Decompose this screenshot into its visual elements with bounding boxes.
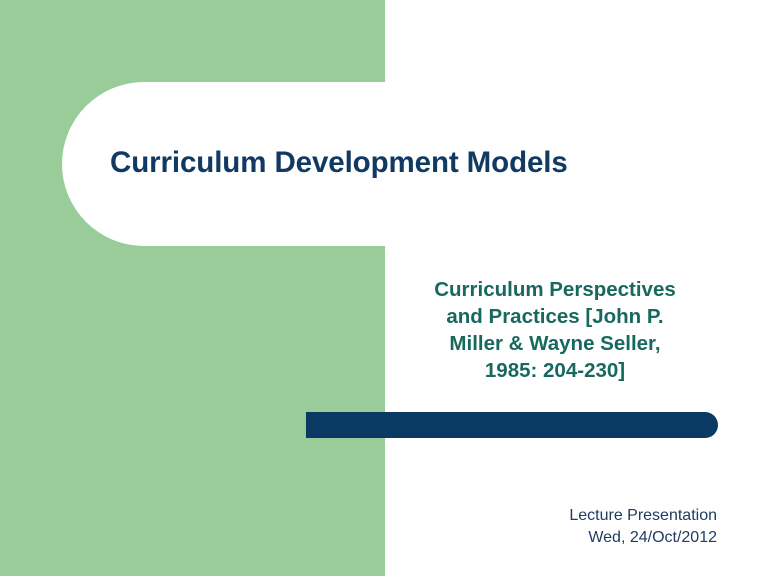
subtitle-line-4: 1985: 204-230] <box>398 357 712 384</box>
subtitle-line-2: and Practices [John P. <box>398 303 712 330</box>
accent-rule-bar <box>306 412 718 438</box>
footer-line-presentation: Lecture Presentation <box>398 505 717 527</box>
subtitle-line-3: Miller & Wayne Seller, <box>398 330 712 357</box>
subtitle-line-1: Curriculum Perspectives <box>398 276 712 303</box>
footer-line-date: Wed, 24/Oct/2012 <box>398 527 717 549</box>
slide-subtitle: Curriculum Perspectives and Practices [J… <box>398 276 712 384</box>
slide-title: Curriculum Development Models <box>110 143 730 183</box>
title-slide: Curriculum Development Models Curriculum… <box>0 0 768 576</box>
slide-footer: Lecture Presentation Wed, 24/Oct/2012 <box>398 505 717 549</box>
